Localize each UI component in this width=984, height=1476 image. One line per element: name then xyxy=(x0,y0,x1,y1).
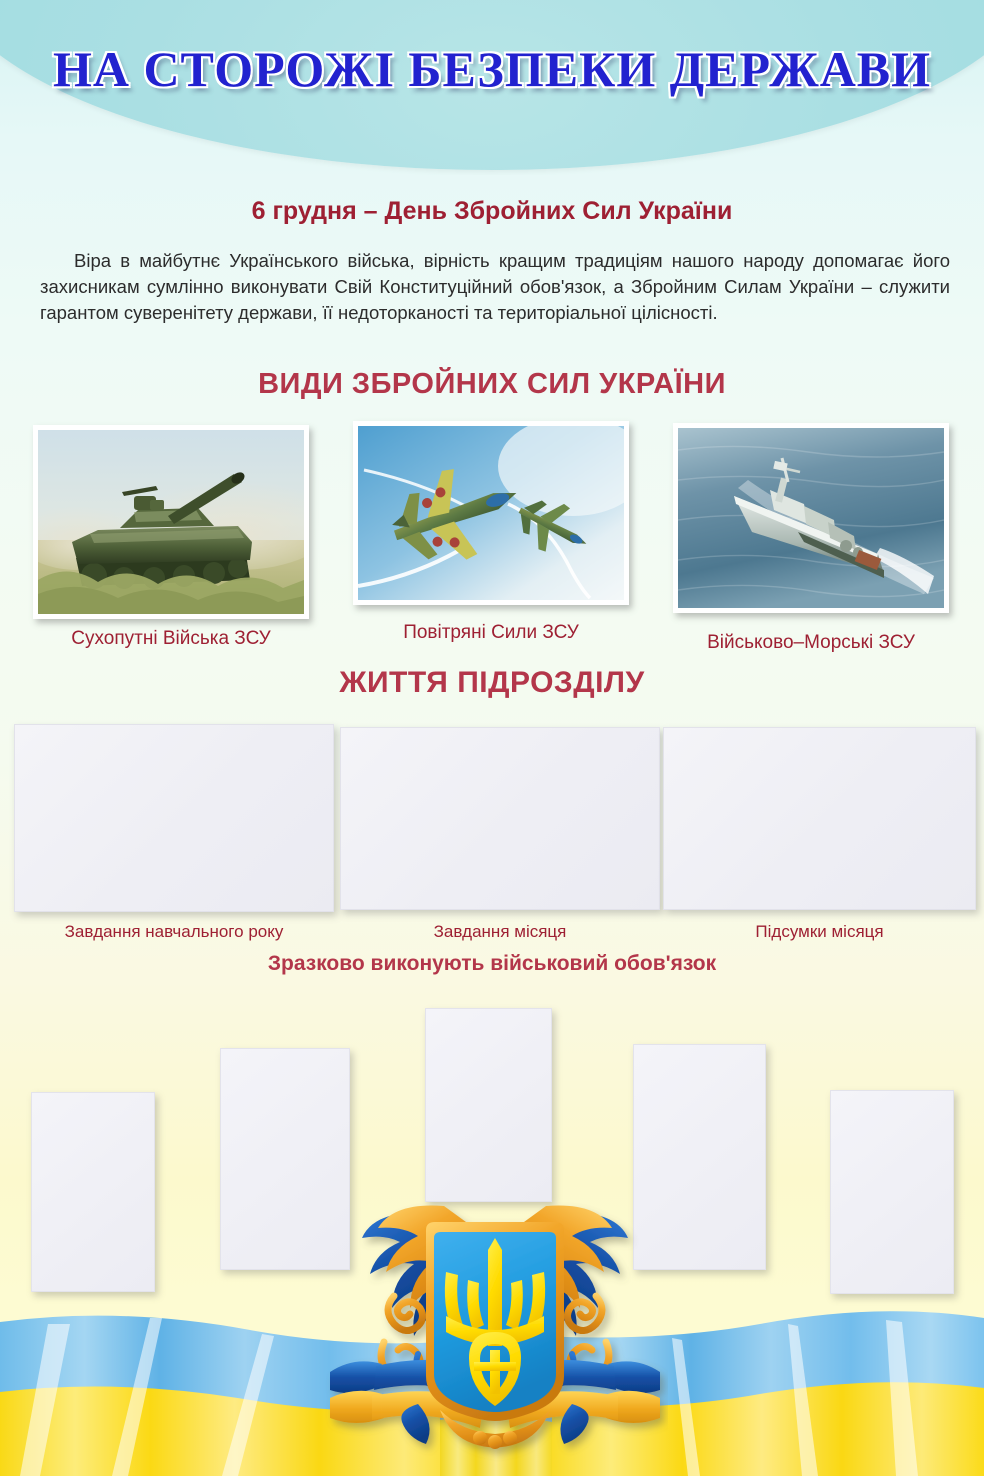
coat-of-arms-illustration xyxy=(322,1176,668,1476)
unit-life-heading: ЖИТТЯ ПІДРОЗДІЛУ xyxy=(0,666,984,700)
honour-heading: Зразково виконують військовий обов'язок xyxy=(0,952,984,976)
branch-caption-air: Повітряні Сили ЗСУ xyxy=(353,622,629,644)
unit-life-slot-1[interactable] xyxy=(14,724,334,912)
portrait-slot-3[interactable] xyxy=(425,1008,552,1202)
information-board: НА СТОРОЖІ БЕЗПЕКИ ДЕРЖАВИ 6 грудня – Де… xyxy=(0,0,984,1476)
jets-illustration xyxy=(358,426,624,600)
warship-illustration xyxy=(678,428,944,608)
jet-aircraft-photo xyxy=(353,421,629,605)
page-title: НА СТОРОЖІ БЕЗПЕКИ ДЕРЖАВИ xyxy=(0,40,984,98)
ukrainian-coat-of-arms-trident xyxy=(322,1176,668,1476)
branch-caption-navy: Військово–Морські ЗСУ xyxy=(673,632,949,654)
portrait-slot-5[interactable] xyxy=(830,1090,954,1294)
board-header: НА СТОРОЖІ БЕЗПЕКИ ДЕРЖАВИ xyxy=(0,0,984,175)
branches-heading: ВИДИ ЗБРОЙНИХ СИЛ УКРАЇНИ xyxy=(0,368,984,401)
unit-life-caption-2: Завдання місяця xyxy=(340,922,660,942)
intro-heading: 6 грудня – День Збройних Сил України xyxy=(0,197,984,226)
warship-photo xyxy=(673,423,949,613)
tank-photo xyxy=(33,425,309,619)
unit-life-slot-3[interactable] xyxy=(663,727,976,910)
branch-caption-land: Сухопутні Війська ЗСУ xyxy=(33,628,309,650)
intro-paragraph: Віра в майбутнє Українського війська, ві… xyxy=(40,248,950,326)
unit-life-caption-1: Завдання навчального року xyxy=(14,922,334,942)
unit-life-slot-2[interactable] xyxy=(340,727,660,910)
portrait-slot-1[interactable] xyxy=(31,1092,155,1292)
unit-life-caption-3: Підсумки місяця xyxy=(663,922,976,942)
tank-illustration xyxy=(38,430,304,614)
